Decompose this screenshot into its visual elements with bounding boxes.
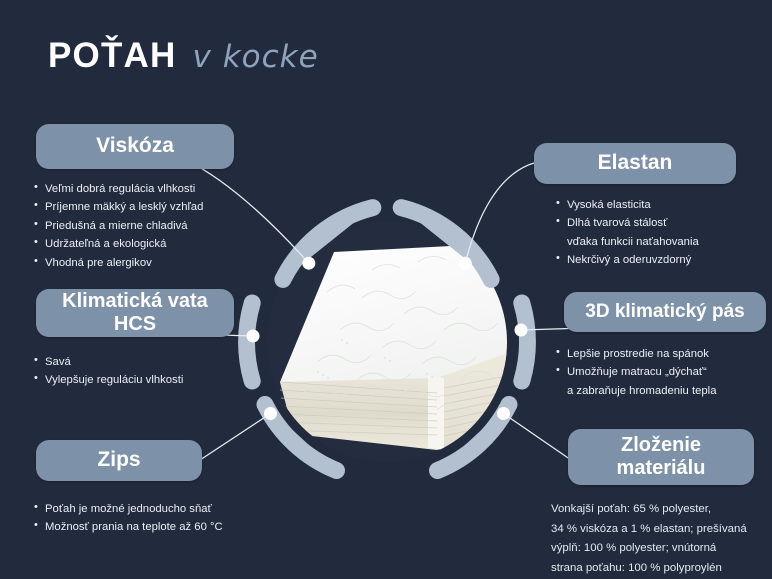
list-item: Vysoká elasticita: [556, 196, 699, 214]
list-item: Veľmi dobrá regulácia vlhkosti: [34, 180, 203, 198]
paragraph-line: Vonkajší poťah: 65 % polyester,: [551, 500, 747, 520]
list-item: Umožňuje matracu „dýchať“: [556, 363, 716, 381]
list-item: Dlhá tvarová stálosť: [556, 214, 699, 232]
title-script: v kocke: [193, 39, 319, 75]
list-item: Vylepšuje reguláciu vlhkosti: [34, 371, 183, 389]
list-item: Vhodná pre alergikov: [34, 254, 203, 272]
paragraph-line: 34 % viskóza a 1 % elastan; prešívaná: [551, 520, 747, 540]
bullets-viskoza: Veľmi dobrá regulácia vlhkosti Príjemne …: [34, 180, 203, 272]
list-item: Nekrčivý a oderuvzdorný: [556, 251, 699, 269]
connector-dot-viskoza: [302, 257, 315, 270]
label-zlozenie-materialu[interactable]: Zloženie materiálu: [568, 429, 754, 485]
list-item: Priedušná a mierne chladivá: [34, 217, 203, 235]
label-3d-klimaticky-pas[interactable]: 3D klimatický pás: [564, 292, 766, 332]
list-item: Príjemne mäkký a lesklý vzhľad: [34, 198, 203, 216]
label-viskoza-text: Viskóza: [86, 134, 184, 158]
list-item-continuation: vďaka funkcii naťahovania: [556, 233, 699, 251]
list-item: Lepšie prostredie na spánok: [556, 345, 716, 363]
page-title: POŤAH v kocke: [48, 36, 319, 76]
bullets-klimaticka-vata: Savá Vylepšuje reguláciu vlhkosti: [34, 353, 183, 390]
bullets-zips: Poťah je možné jednoducho sňať Možnosť p…: [34, 500, 223, 537]
infographic-root: POŤAH v kocke: [0, 0, 772, 579]
label-elastan-text: Elastan: [588, 151, 683, 175]
paragraph-line: výplň: 100 % polyester; vnútorná: [551, 539, 747, 559]
list-item: Možnosť prania na teplote až 60 °C: [34, 518, 223, 536]
label-zlozenie-line2: materiálu: [607, 457, 716, 480]
list-item: Poťah je možné jednoducho sňať: [34, 500, 223, 518]
connector-dot-elastan: [459, 257, 472, 270]
bullets-3d-klimaticky-pas: Lepšie prostredie na spánok Umožňuje mat…: [556, 345, 716, 400]
label-3d-klimaticky-pas-text: 3D klimatický pás: [575, 301, 754, 323]
list-item-continuation: a zabraňuje hromadeniu tepla: [556, 382, 716, 400]
list-item: Udržateľná a ekologická: [34, 235, 203, 253]
arc-segment-right: [522, 303, 528, 381]
connector-dot-3d-pas: [515, 324, 528, 337]
connector-line-zlozenie: [504, 414, 575, 463]
label-elastan[interactable]: Elastan: [534, 143, 736, 184]
label-zips-text: Zips: [87, 448, 150, 472]
connector-dot-klimaticka-vata: [247, 330, 260, 343]
connector-line-zips: [200, 414, 271, 461]
label-klimaticka-vata-line2: HCS: [104, 313, 166, 336]
connector-dot-zlozenie: [497, 407, 510, 420]
bullets-elastan: Vysoká elasticita Dlhá tvarová stálosť v…: [556, 196, 699, 270]
center-graphic: [222, 182, 552, 500]
title-main: POŤAH: [48, 36, 177, 76]
paragraph-line: strana poťahu: 100 % polyproylén: [551, 559, 747, 579]
label-zlozenie-line1: Zloženie: [611, 434, 711, 457]
label-zips[interactable]: Zips: [36, 440, 202, 481]
paragraph-zlozenie-materialu: Vonkajší poťah: 65 % polyester, 34 % vis…: [551, 500, 747, 578]
list-item: Savá: [34, 353, 183, 371]
label-klimaticka-vata-line1: Klimatická vata: [52, 290, 218, 313]
connector-dot-zips: [264, 407, 277, 420]
label-klimaticka-vata-hcs[interactable]: Klimatická vata HCS: [36, 289, 234, 337]
label-viskoza[interactable]: Viskóza: [36, 124, 234, 169]
